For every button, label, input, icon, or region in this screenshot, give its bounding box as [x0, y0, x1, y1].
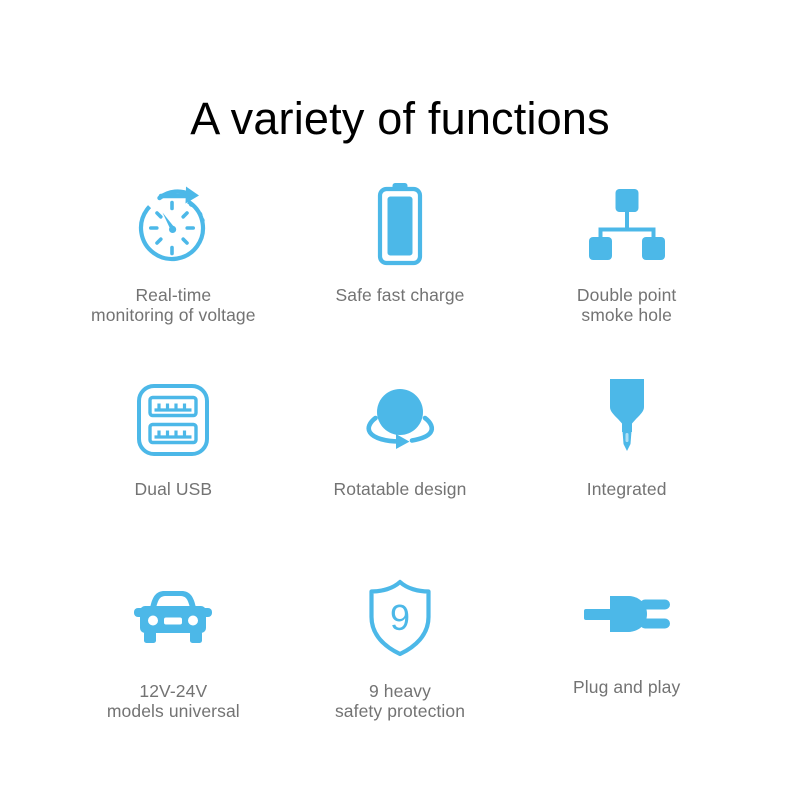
- feature-item-12v-24v-models-universal[interactable]: 12V-24V models universal: [60, 568, 287, 766]
- feature-label: 9 heavy safety protection: [335, 682, 465, 721]
- feature-label: Double point smoke hole: [577, 286, 676, 325]
- shield-badge-number: 9: [390, 597, 410, 638]
- feature-label: Plug and play: [573, 678, 680, 698]
- feature-item-safe-fast-charge[interactable]: Safe fast charge: [287, 172, 514, 370]
- feature-label: Rotatable design: [334, 480, 467, 500]
- feature-item-double-point-smoke-hole[interactable]: Double point smoke hole: [513, 172, 740, 370]
- feature-item-integrated[interactable]: Integrated: [513, 370, 740, 568]
- shield-nine-icon: 9: [350, 568, 450, 668]
- car-front-icon: [123, 568, 223, 668]
- rotate-sphere-icon: [350, 370, 450, 470]
- hierarchy-nodes-icon: [577, 172, 677, 276]
- feature-item-rotatable-design[interactable]: Rotatable design: [287, 370, 514, 568]
- stopwatch-timer-icon: [123, 172, 223, 276]
- page-title: A variety of functions: [0, 94, 800, 144]
- feature-label: Real-time monitoring of voltage: [91, 286, 256, 325]
- power-plug-icon: [577, 568, 677, 660]
- feature-label: Integrated: [587, 480, 667, 500]
- feature-item-9-heavy-safety-protection[interactable]: 9 9 heavy safety protection: [287, 568, 514, 766]
- battery-icon: [350, 172, 450, 276]
- feature-item-dual-usb[interactable]: Dual USB: [60, 370, 287, 568]
- feature-label: 12V-24V models universal: [107, 682, 240, 721]
- feature-label: Dual USB: [135, 480, 213, 500]
- dual-usb-port-icon: [123, 370, 223, 470]
- feature-item-real-time-monitoring[interactable]: Real-time monitoring of voltage: [60, 172, 287, 370]
- feature-label: Safe fast charge: [335, 286, 464, 306]
- feature-showcase-page: A variety of functions: [0, 0, 800, 800]
- feature-item-plug-and-play[interactable]: Plug and play: [513, 568, 740, 766]
- feature-grid: Real-time monitoring of voltage Safe fas…: [60, 172, 740, 766]
- car-charger-plug-icon: [577, 370, 677, 470]
